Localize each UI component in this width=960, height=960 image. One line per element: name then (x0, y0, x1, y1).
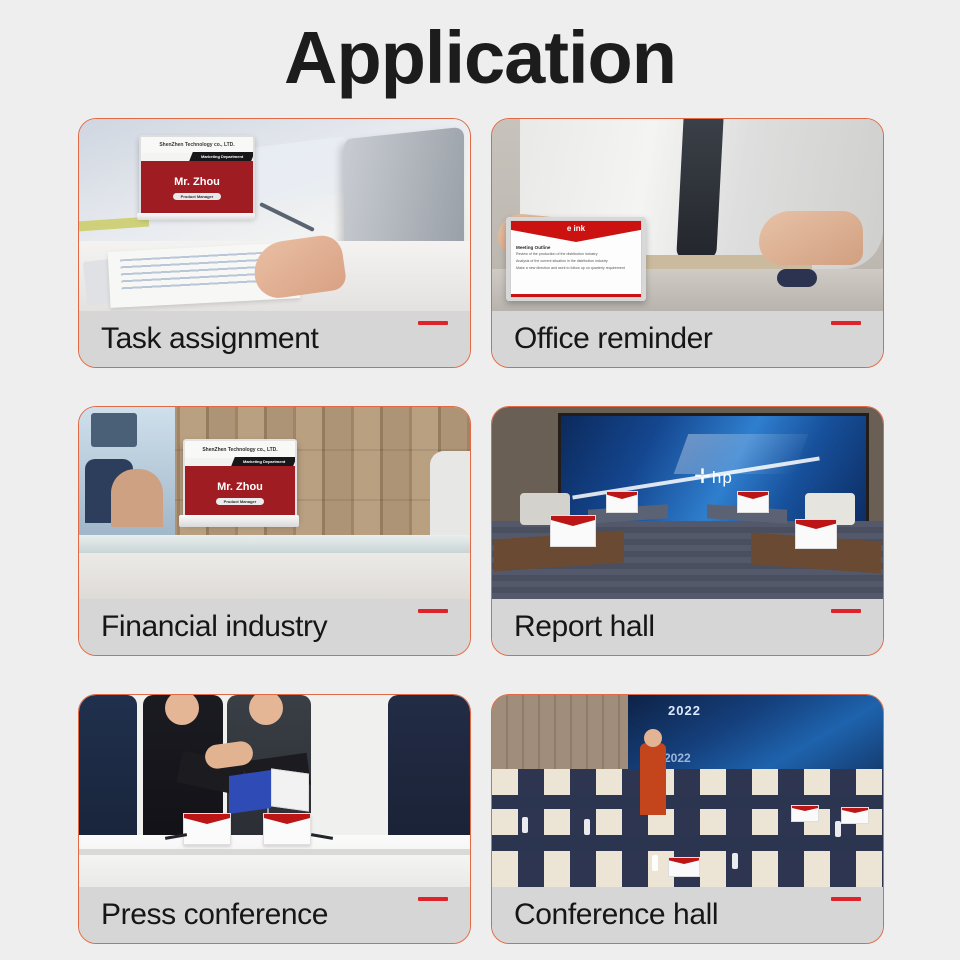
scene-businessman-desk: e ink Meeting Outline Review of the prod… (492, 119, 883, 311)
led-year-text-secondary: 2022 (664, 751, 691, 765)
minus-icon (831, 321, 861, 325)
card-label-band-report-hall: Report hall (492, 599, 883, 655)
eink-line-1: Review of the production of the distribu… (516, 252, 636, 257)
hp-logo-text: hp (712, 468, 733, 487)
badge-role: Product Manager (173, 193, 222, 200)
eink-heading: Meeting Outline (516, 245, 636, 250)
desk-name-card (263, 813, 311, 845)
badge-name: Mr. Zhou (217, 481, 263, 493)
application-card-task-assignment[interactable]: ShenZhen Technology co., LTD. Marketing … (78, 118, 471, 368)
desk-name-card (841, 807, 869, 824)
application-card-press-conference[interactable]: Press conference (78, 694, 471, 944)
desk-name-badge: ShenZhen Technology co., LTD. Marketing … (183, 439, 297, 521)
card-label-press-conference: Press conference (101, 898, 328, 932)
desk-name-badge: ShenZhen Technology co., LTD. Marketing … (139, 135, 255, 217)
card-photo-report-hall: ✛hp (492, 407, 883, 599)
desk-name-card (183, 813, 231, 845)
card-label-band-task-assignment: Task assignment (79, 311, 470, 367)
card-label-band-office-reminder: Office reminder (492, 311, 883, 367)
badge-department: Marketing Department (201, 154, 243, 159)
eink-line-2: Analysis of the current situation in the… (516, 259, 636, 264)
application-card-grid: ShenZhen Technology co., LTD. Marketing … (78, 118, 884, 944)
scene-office-desk: ShenZhen Technology co., LTD. Marketing … (79, 119, 470, 311)
desk-name-card (606, 491, 638, 513)
minus-icon (418, 321, 448, 325)
desk-name-card (791, 805, 819, 822)
minus-icon (418, 609, 448, 613)
scene-lecture-hall: ✛hp (492, 407, 883, 599)
desk-name-card (668, 857, 700, 877)
laptop-illustration (344, 127, 464, 260)
card-photo-press-conference (79, 695, 470, 887)
badge-company: ShenZhen Technology co., LTD. (159, 142, 234, 148)
application-card-report-hall[interactable]: ✛hp Report hall (491, 406, 884, 656)
application-card-office-reminder[interactable]: e ink Meeting Outline Review of the prod… (491, 118, 884, 368)
minus-icon (831, 897, 861, 901)
minus-icon (831, 609, 861, 613)
scene-bank-counter: ShenZhen Technology co., LTD. Marketing … (79, 407, 470, 599)
application-card-conference-hall[interactable]: 2022 2022 (491, 694, 884, 944)
card-photo-financial-industry: ShenZhen Technology co., LTD. Marketing … (79, 407, 470, 599)
card-label-office-reminder: Office reminder (514, 322, 713, 356)
desk-name-card (737, 491, 769, 513)
desk-name-card (795, 519, 837, 549)
page-title: Application (0, 10, 960, 106)
scene-signing-ceremony (79, 695, 470, 887)
badge-company: ShenZhen Technology co., LTD. (202, 447, 277, 453)
card-label-band-conference-hall: Conference hall (492, 887, 883, 943)
badge-role: Product Manager (216, 498, 265, 505)
minus-icon (418, 897, 448, 901)
badge-name: Mr. Zhou (174, 176, 220, 188)
eink-brand: e ink (567, 224, 585, 233)
person-standing (640, 743, 666, 815)
card-label-financial-industry: Financial industry (101, 610, 327, 644)
eink-display-card: e ink Meeting Outline Review of the prod… (506, 217, 646, 301)
scene-conference-hall: 2022 2022 (492, 695, 883, 887)
card-photo-office-reminder: e ink Meeting Outline Review of the prod… (492, 119, 883, 311)
card-label-conference-hall: Conference hall (514, 898, 718, 932)
card-photo-conference-hall: 2022 2022 (492, 695, 883, 887)
card-label-task-assignment: Task assignment (101, 322, 318, 356)
card-photo-task-assignment: ShenZhen Technology co., LTD. Marketing … (79, 119, 470, 311)
badge-department: Marketing Department (243, 459, 285, 464)
card-label-band-press-conference: Press conference (79, 887, 470, 943)
led-year-text: 2022 (668, 703, 701, 718)
eink-line-3: Make a new direction and work to follow … (516, 266, 636, 271)
desk-name-card (550, 515, 596, 547)
card-label-band-financial-industry: Financial industry (79, 599, 470, 655)
card-label-report-hall: Report hall (514, 610, 655, 644)
application-card-financial-industry[interactable]: ShenZhen Technology co., LTD. Marketing … (78, 406, 471, 656)
